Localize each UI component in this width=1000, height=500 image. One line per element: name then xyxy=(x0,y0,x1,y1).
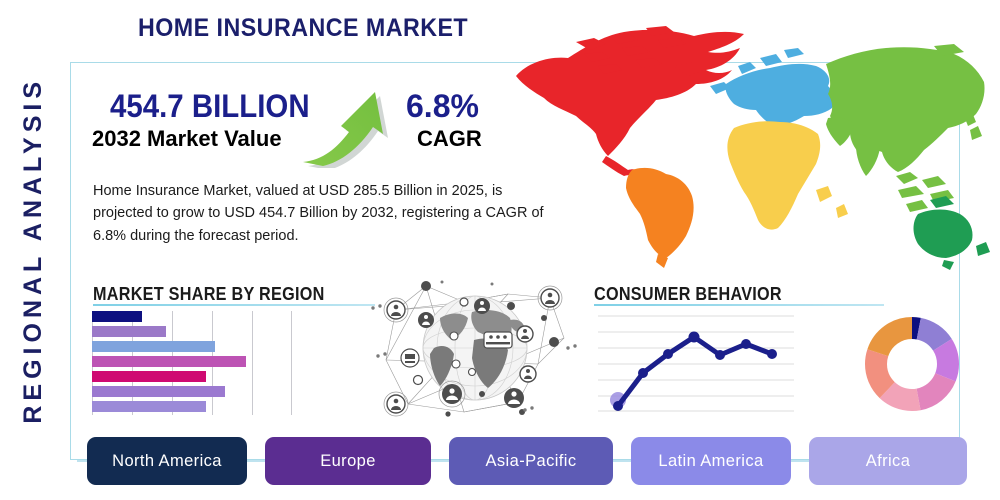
kpi-row: 454.7 BILLION 2032 Market Value 6.8% CAG… xyxy=(92,88,512,168)
region-button-europe[interactable]: Europe xyxy=(265,437,431,485)
market-value-figure: 454.7 BILLION xyxy=(110,88,310,125)
world-map-icon xyxy=(498,18,990,270)
market-value-caption: 2032 Market Value xyxy=(92,126,282,152)
region-connector xyxy=(245,460,265,462)
market-share-heading-rule xyxy=(93,304,375,306)
side-label-text: REGIONAL ANALYSIS xyxy=(19,77,48,424)
page-title: HOME INSURANCE MARKET xyxy=(138,14,468,43)
table-row xyxy=(92,386,225,397)
table-row xyxy=(92,311,142,322)
table-row xyxy=(92,341,215,352)
market-description: Home Insurance Market, valued at USD 285… xyxy=(93,180,563,247)
consumer-behavior-line-chart xyxy=(598,310,794,415)
region-connector xyxy=(611,460,631,462)
cagr-figure: 6.8% xyxy=(406,88,479,125)
region-button-label: Latin America xyxy=(658,452,763,471)
consumer-behavior-heading-rule xyxy=(594,304,884,306)
table-row xyxy=(92,326,166,337)
region-button-africa[interactable]: Africa xyxy=(809,437,967,485)
growth-arrow-icon xyxy=(297,82,407,168)
table-row xyxy=(92,371,206,382)
region-button-label: Africa xyxy=(866,452,911,471)
table-row xyxy=(92,356,246,367)
table-row xyxy=(92,401,206,412)
market-share-heading: MARKET SHARE BY REGION xyxy=(93,284,325,305)
global-network-globe-icon xyxy=(368,276,583,424)
region-connector xyxy=(789,460,809,462)
market-share-bar-chart xyxy=(92,311,292,415)
consumer-segment-donut-chart xyxy=(860,312,964,416)
cagr-caption: CAGR xyxy=(417,126,482,152)
region-button-north-america[interactable]: North America xyxy=(87,437,247,485)
region-button-label: North America xyxy=(112,452,222,471)
region-button-bar: North America Europe Asia-Pacific Latin … xyxy=(77,437,977,485)
regional-analysis-side-label: REGIONAL ANALYSIS xyxy=(6,0,60,500)
region-button-latin-america[interactable]: Latin America xyxy=(631,437,791,485)
region-connector xyxy=(429,460,449,462)
region-button-label: Europe xyxy=(320,452,376,471)
region-button-label: Asia-Pacific xyxy=(486,452,577,471)
region-button-asia-pacific[interactable]: Asia-Pacific xyxy=(449,437,613,485)
consumer-behavior-heading: CONSUMER BEHAVIOR xyxy=(594,284,782,305)
